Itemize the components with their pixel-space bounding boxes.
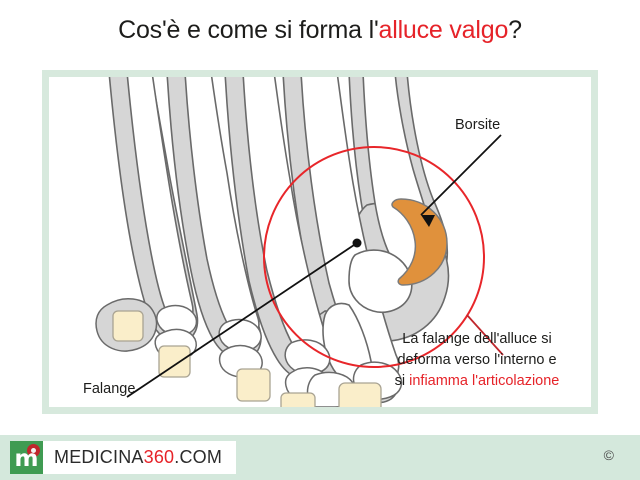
caption-line-3-accent: infiamma l'articolazione — [409, 373, 559, 389]
page-title-prefix: Cos'è e come si forma l' — [118, 16, 378, 44]
leader-line-borsite — [421, 135, 501, 215]
toenail-3 — [237, 369, 270, 401]
page-root: Cos'è e come si forma l'alluce valgo? — [0, 0, 640, 480]
brand-text-part1: MEDICINA — [54, 447, 144, 467]
caption-line-3: si infiamma l'articolazione — [349, 371, 605, 392]
toe-tip-nail-overlay — [113, 311, 143, 341]
illustration-frame: Borsite Falange La falange dell'alluce s… — [42, 70, 598, 414]
label-borsite: Borsite — [455, 117, 500, 133]
footer-band: m MEDICINA360.COM © — [0, 435, 640, 480]
caption-line-2: deforma verso l'interno e — [349, 350, 605, 371]
caption-line-1: La falange dell'alluce si — [349, 329, 605, 350]
leader-dot-falange — [353, 239, 362, 248]
page-title: Cos'è e come si forma l'alluce valgo? — [0, 16, 640, 45]
toenail-5-overlay — [113, 311, 143, 341]
caption-line-3-prefix: si — [395, 373, 410, 389]
page-title-suffix: ? — [508, 16, 522, 44]
brand-text-accent: 360 — [144, 447, 175, 467]
brand-logo[interactable]: m MEDICINA360.COM — [10, 441, 236, 474]
logo-letter: m — [10, 448, 43, 471]
brand-text: MEDICINA360.COM — [54, 447, 222, 468]
page-title-accent: alluce valgo — [379, 16, 509, 44]
copyright-symbol: © — [604, 447, 614, 463]
medicina360-logo-icon: m — [10, 441, 43, 474]
brand-text-part2: .COM — [174, 447, 222, 467]
illustration-caption: La falange dell'alluce si deforma verso … — [349, 329, 605, 392]
label-falange: Falange — [83, 381, 135, 397]
toenail-2 — [281, 393, 315, 407]
